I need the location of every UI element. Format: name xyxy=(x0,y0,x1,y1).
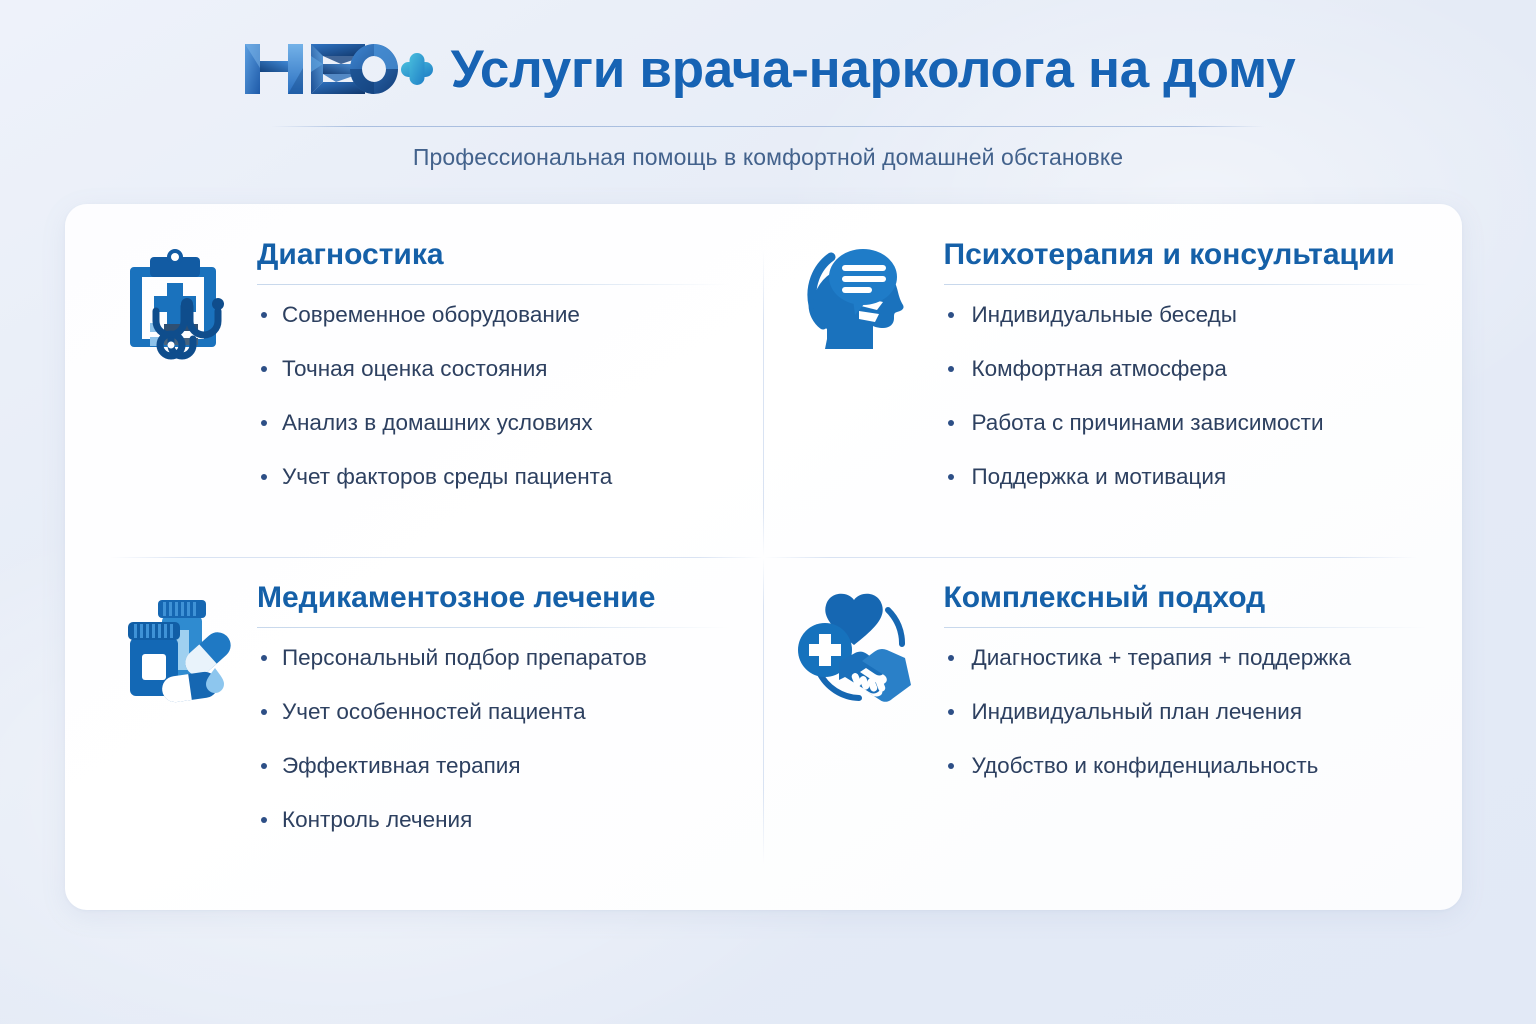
service-card-psychotherapy[interactable]: Психотерапия и консультации Индивидуальн… xyxy=(764,204,1463,557)
service-card-diagnostics[interactable]: Диагностика Современное оборудование Точ… xyxy=(65,204,764,557)
service-card-body: Диагностика Современное оборудование Точ… xyxy=(257,232,730,490)
service-card-bullets: Персональный подбор препаратов Учет особ… xyxy=(257,644,730,833)
list-item: Анализ в домашних условиях xyxy=(257,409,730,436)
service-card-title-rule xyxy=(944,627,1429,628)
header-title-row: Услуги врача-нарколога на дому xyxy=(0,26,1536,112)
service-card-title-rule xyxy=(257,627,730,628)
list-item: Диагностика + терапия + поддержка xyxy=(944,644,1429,671)
services-grid: Диагностика Современное оборудование Точ… xyxy=(65,204,1462,910)
services-panel: Диагностика Современное оборудование Точ… xyxy=(65,204,1462,910)
service-card-title: Комплексный подход xyxy=(944,581,1429,615)
header-divider xyxy=(271,126,1265,127)
list-item: Персональный подбор препаратов xyxy=(257,644,730,671)
neo-plus-logo xyxy=(241,37,433,101)
list-item: Учет факторов среды пациента xyxy=(257,463,730,490)
list-item: Эффективная терапия xyxy=(257,752,730,779)
list-item: Индивидуальный план лечения xyxy=(944,698,1429,725)
service-card-title: Диагностика xyxy=(257,238,730,272)
page-subtitle: Профессиональная помощь в комфортной дом… xyxy=(0,144,1536,171)
service-card-title: Медикаментозное лечение xyxy=(257,581,730,615)
service-card-title: Психотерапия и консультации xyxy=(944,238,1429,272)
list-item: Контроль лечения xyxy=(257,806,730,833)
list-item: Комфортная атмосфера xyxy=(944,355,1429,382)
list-item: Индивидуальные беседы xyxy=(944,301,1429,328)
clipboard-stethoscope-icon xyxy=(109,238,241,370)
service-card-complex-approach[interactable]: Комплексный подход Диагностика + терапия… xyxy=(764,557,1463,910)
list-item: Удобство и конфиденциальность xyxy=(944,752,1429,779)
list-item: Точная оценка состояния xyxy=(257,355,730,382)
page-header: Услуги врача-нарколога на дому Профессио… xyxy=(0,26,1536,171)
service-card-title-rule xyxy=(257,284,730,285)
list-item: Учет особенностей пациента xyxy=(257,698,730,725)
heart-handshake-cross-icon xyxy=(788,581,920,713)
list-item: Поддержка и мотивация xyxy=(944,463,1429,490)
service-card-body: Комплексный подход Диагностика + терапия… xyxy=(936,575,1429,779)
service-card-body: Психотерапия и консультации Индивидуальн… xyxy=(936,232,1429,490)
service-card-bullets: Индивидуальные беседы Комфортная атмосфе… xyxy=(944,301,1429,490)
service-card-bullets: Современное оборудование Точная оценка с… xyxy=(257,301,730,490)
service-card-title-rule xyxy=(944,284,1429,285)
service-card-bullets: Диагностика + терапия + поддержка Индиви… xyxy=(944,644,1429,779)
service-card-body: Медикаментозное лечение Персональный под… xyxy=(257,575,730,833)
list-item: Работа с причинами зависимости xyxy=(944,409,1429,436)
infographic-poster: Услуги врача-нарколога на дому Профессио… xyxy=(0,0,1536,1024)
list-item: Современное оборудование xyxy=(257,301,730,328)
pill-bottles-icon xyxy=(109,581,241,713)
service-card-medication[interactable]: Медикаментозное лечение Персональный под… xyxy=(65,557,764,910)
page-title: Услуги врача-нарколога на дому xyxy=(451,43,1296,96)
head-speech-bubble-icon xyxy=(788,238,920,370)
